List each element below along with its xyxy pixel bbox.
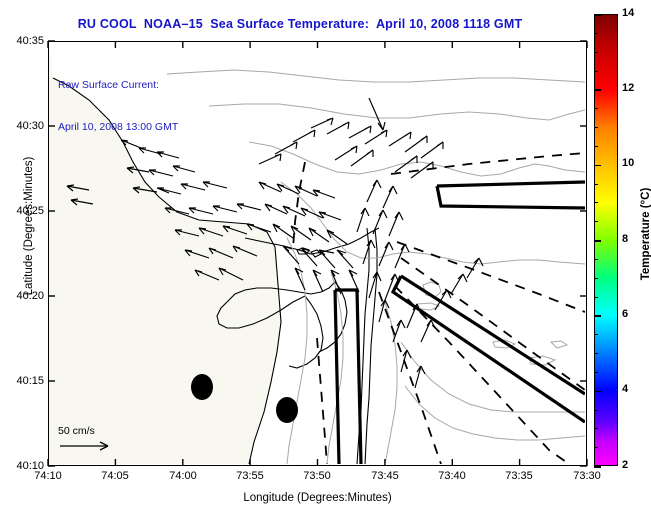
colorbar-tick-10 [594, 165, 601, 167]
colorbar-minor-tick-12 [594, 334, 598, 335]
colorbar-minor-tick-7 [594, 202, 598, 203]
colorbar-minor-tick-11 [594, 297, 598, 298]
colorbar-minor-tick-14 [594, 372, 598, 373]
colorbar-tick-8 [594, 240, 601, 242]
colorbar-label-4: 4 [622, 383, 628, 395]
colorbar-minor-tick-4 [594, 127, 598, 128]
colorbar-minor-tick-10 [594, 278, 598, 279]
colorbar-minor-tick-8 [594, 221, 598, 222]
ytick-label-5: 40:10 [2, 460, 44, 472]
xtick-label-6: 73:40 [428, 470, 476, 482]
colorbar-tick-12 [594, 89, 601, 91]
colorbar-label-10: 10 [622, 157, 634, 169]
xtick-label-3: 73:55 [226, 470, 274, 482]
colorbar-minor-tick-17 [594, 447, 598, 448]
colorbar-minor-tick-0 [594, 33, 598, 34]
colorbar-minor-tick-15 [594, 410, 598, 411]
x-axis-label: Longitude (Degrees:Minutes) [48, 492, 587, 504]
xtick-label-5: 73:45 [361, 470, 409, 482]
colorbar-label-12: 12 [622, 82, 634, 94]
xtick-label-8: 73:30 [563, 470, 611, 482]
colorbar-tick-2 [594, 466, 601, 468]
colorbar-minor-tick-3 [594, 108, 598, 109]
xtick-label-2: 74:00 [159, 470, 207, 482]
colorbar-label-14: 14 [622, 7, 634, 19]
colorbar-tick-4 [594, 391, 601, 393]
axis-ticks [0, 0, 651, 519]
colorbar-axis-label: Temperature (°C) [640, 164, 651, 304]
colorbar-minor-tick-5 [594, 146, 598, 147]
colorbar-minor-tick-16 [594, 428, 598, 429]
colorbar-minor-tick-1 [594, 52, 598, 53]
colorbar-minor-tick-13 [594, 353, 598, 354]
colorbar-tick-14 [594, 14, 601, 16]
colorbar-minor-tick-9 [594, 259, 598, 260]
xtick-label-7: 73:35 [495, 470, 543, 482]
colorbar-minor-tick-6 [594, 184, 598, 185]
colorbar-tick-6 [594, 315, 601, 317]
y-axis-label: Latitude (Degrees:Minutes) [23, 141, 35, 311]
sst-map-figure: RU COOL NOAA–15 Sea Surface Temperature:… [0, 0, 651, 519]
colorbar-label-2: 2 [622, 459, 628, 471]
ytick-label-4: 40:15 [2, 375, 44, 387]
ytick-label-0: 40:35 [2, 35, 44, 47]
xtick-label-1: 74:05 [91, 470, 139, 482]
colorbar-label-6: 6 [622, 308, 628, 320]
xtick-label-4: 73:50 [293, 470, 341, 482]
ytick-label-1: 40:30 [2, 120, 44, 132]
colorbar-minor-tick-2 [594, 71, 598, 72]
colorbar-label-8: 8 [622, 233, 628, 245]
